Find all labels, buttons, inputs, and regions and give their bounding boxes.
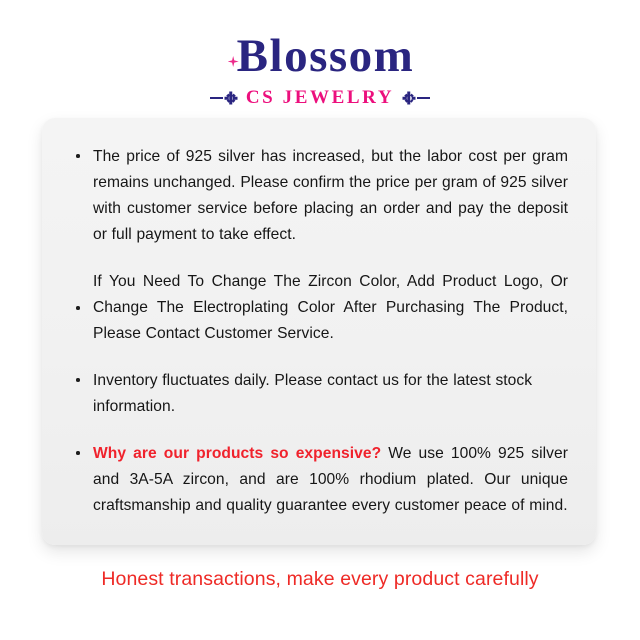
sparkle-diamond-icon <box>226 30 240 82</box>
list-item: Inventory fluctuates daily. Please conta… <box>70 368 568 420</box>
brand-subtitle: CS JEWELRY <box>246 88 394 108</box>
list-item: The price of 925 silver has increased, b… <box>70 144 568 248</box>
right-ornament-icon <box>401 88 430 108</box>
notice-card: The price of 925 silver has increased, b… <box>42 118 596 545</box>
notice-text-pricing-explanation: Why are our products so expensive? We us… <box>93 441 568 519</box>
footer-tagline: Honest transactions, make every product … <box>0 568 640 591</box>
bullet-dot-icon <box>76 154 80 158</box>
pricing-question-highlight: Why are our products so expensive? <box>93 445 381 462</box>
list-item: Why are our products so expensive? We us… <box>70 441 568 519</box>
brand-name: Blossom <box>237 30 415 82</box>
brand-name-row: Blossom <box>0 30 640 82</box>
notice-text-inventory: Inventory fluctuates daily. Please conta… <box>93 368 568 420</box>
bullet-dot-icon <box>76 306 80 310</box>
bullet-dot-icon <box>76 451 80 455</box>
bullet-dot-icon <box>76 378 80 382</box>
notice-bullet-list: The price of 925 silver has increased, b… <box>70 144 568 519</box>
notice-text-price: The price of 925 silver has increased, b… <box>93 144 568 248</box>
list-item: If You Need To Change The Zircon Color, … <box>70 269 568 347</box>
brand-logo: Blossom CS JEWELRY <box>0 0 640 108</box>
left-ornament-icon <box>210 88 239 108</box>
brand-subtitle-row: CS JEWELRY <box>0 88 640 108</box>
notice-text-customization: If You Need To Change The Zircon Color, … <box>93 269 568 347</box>
